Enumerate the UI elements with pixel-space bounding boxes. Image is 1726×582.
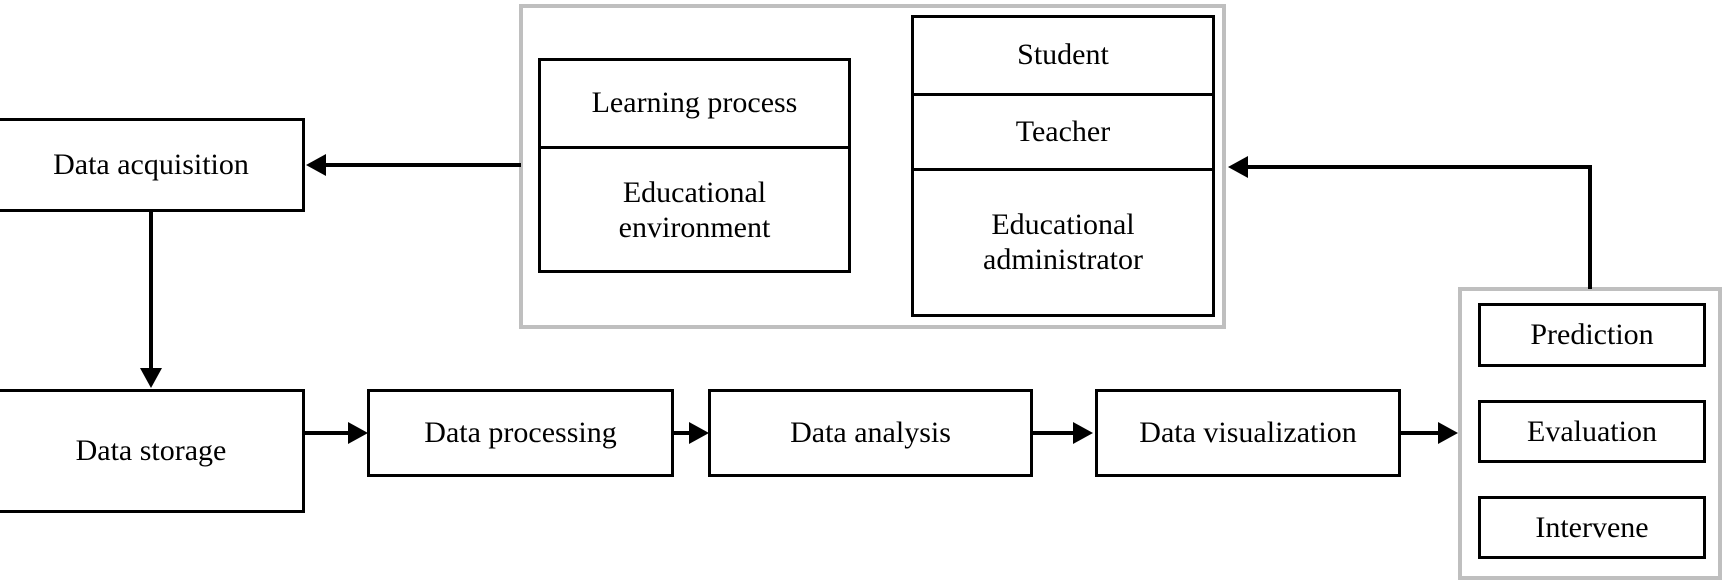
data-storage-box[interactable]: Data storage	[0, 389, 305, 513]
context-cell-educational-environment[interactable]: Educational environment	[541, 149, 848, 273]
connector-analysis-to-visualization-line	[1033, 431, 1075, 435]
evaluation-box[interactable]: Evaluation	[1478, 400, 1706, 463]
data-storage-label: Data storage	[70, 433, 233, 468]
connector-sources-to-acquisition-arrowhead	[306, 154, 326, 176]
connector-storage-to-processing-line	[305, 431, 350, 435]
educational-administrator-line-1: Educational	[991, 208, 1134, 241]
data-acquisition-label: Data acquisition	[47, 147, 255, 182]
learning-process-label: Learning process	[592, 86, 798, 121]
teacher-label: Teacher	[1016, 115, 1110, 150]
connector-acquisition-to-storage-line	[149, 210, 153, 370]
educational-administrator-label: Educational administrator	[983, 208, 1143, 278]
actors-stack: Student Teacher Educational administrato…	[911, 15, 1215, 317]
connector-analysis-to-visualization-arrowhead	[1073, 422, 1093, 444]
connector-visualization-to-outcomes-arrowhead	[1438, 422, 1458, 444]
data-processing-label: Data processing	[418, 415, 622, 450]
educational-environment-line-2: environment	[619, 211, 771, 244]
context-stack: Learning process Educational environment	[538, 58, 851, 273]
actors-cell-student[interactable]: Student	[914, 18, 1212, 96]
educational-environment-label: Educational environment	[619, 176, 771, 246]
evaluation-label: Evaluation	[1521, 414, 1663, 449]
connector-sources-to-acquisition-line	[326, 163, 521, 167]
connector-feedback-vertical-line	[1588, 165, 1592, 289]
context-cell-learning-process[interactable]: Learning process	[541, 61, 848, 149]
data-analysis-label: Data analysis	[784, 415, 957, 450]
connector-acquisition-to-storage-arrowhead	[140, 368, 162, 388]
connector-feedback-arrowhead	[1228, 156, 1248, 178]
data-visualization-label: Data visualization	[1133, 415, 1362, 450]
connector-storage-to-processing-arrowhead	[348, 422, 368, 444]
connector-processing-to-analysis-arrowhead	[689, 422, 709, 444]
data-processing-box[interactable]: Data processing	[367, 389, 674, 477]
student-label: Student	[1017, 38, 1109, 73]
diagram-canvas: Learning process Educational environment…	[0, 0, 1726, 582]
intervene-box[interactable]: Intervene	[1478, 496, 1706, 559]
actors-cell-teacher[interactable]: Teacher	[914, 96, 1212, 171]
intervene-label: Intervene	[1529, 510, 1654, 545]
actors-cell-educational-administrator[interactable]: Educational administrator	[914, 171, 1212, 314]
data-acquisition-box[interactable]: Data acquisition	[0, 118, 305, 212]
educational-administrator-line-2: administrator	[983, 243, 1143, 276]
connector-visualization-to-outcomes-line	[1400, 431, 1440, 435]
data-analysis-box[interactable]: Data analysis	[708, 389, 1033, 477]
data-visualization-box[interactable]: Data visualization	[1095, 389, 1401, 477]
connector-feedback-horizontal-line	[1248, 165, 1592, 169]
educational-environment-line-1: Educational	[623, 176, 766, 209]
prediction-box[interactable]: Prediction	[1478, 303, 1706, 367]
prediction-label: Prediction	[1524, 317, 1659, 352]
